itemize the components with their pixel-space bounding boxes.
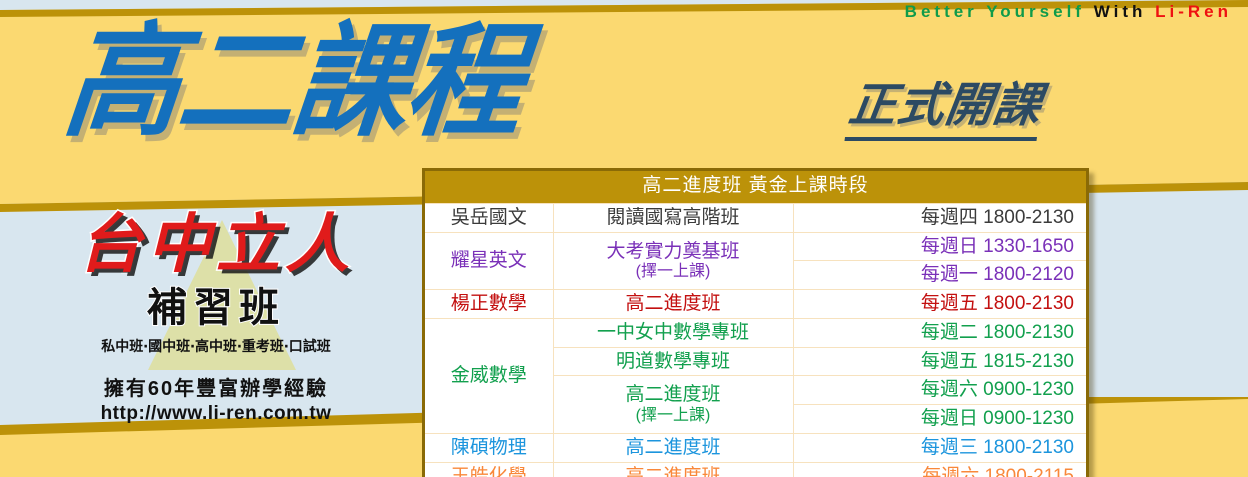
course-name: 高二進度班	[625, 384, 720, 405]
time-cell: 每週四 1800-2130	[793, 203, 1086, 232]
teacher-cell: 吳岳國文	[425, 203, 553, 232]
course-cell: 高二進度班	[553, 433, 793, 462]
time-cell: 每週日 1330-1650	[793, 232, 1086, 261]
course-name: 大考實力奠基班	[606, 241, 739, 262]
tagline-red: Li-Ren	[1155, 2, 1232, 21]
time-cell: 每週六 0900-1230	[793, 376, 1086, 405]
time-cell: 每週六 1800-2115	[793, 462, 1086, 477]
teacher-cell: 耀星英文	[425, 232, 553, 290]
table-header-row: 高二進度班 黃金上課時段	[425, 171, 1086, 203]
course-cell: 閱讀國寫高階班	[553, 203, 793, 232]
course-cell: 一中女中數學專班	[553, 318, 793, 347]
table-row: 金威數學一中女中數學專班每週二 1800-2130	[425, 318, 1086, 347]
time-cell: 每週五 1815-2130	[793, 347, 1086, 376]
school-logo: 台中立人 補習班 私中班‧國中班‧高中班‧重考班‧口試班 擁有60年豐富辦學經驗…	[26, 212, 406, 425]
brand-tagline: Better Yourself With Li-Ren	[905, 2, 1232, 22]
logo-type: 補習班	[26, 275, 406, 333]
course-cell: 大考實力奠基班(擇一上課)	[553, 232, 793, 290]
logo-website-url[interactable]: http://www.li-ren.com.tw	[26, 403, 406, 425]
course-name: 一中女中數學專班	[597, 322, 749, 343]
time-cell: 每週一 1800-2120	[793, 261, 1086, 290]
hero-subtitle: 正式開課	[844, 66, 1047, 141]
table-row: 王皓化學高二進度班每週六 1800-2115	[425, 462, 1086, 477]
course-cell: 高二進度班(擇一上課)	[553, 376, 793, 434]
teacher-cell: 陳碩物理	[425, 433, 553, 462]
course-name: 高二進度班	[625, 437, 720, 458]
table-row: 陳碩物理高二進度班每週三 1800-2130	[425, 433, 1086, 462]
time-cell: 每週二 1800-2130	[793, 318, 1086, 347]
course-note: (擇一上課)	[554, 263, 793, 281]
teacher-cell: 王皓化學	[425, 462, 553, 477]
logo-name: 台中立人	[26, 212, 406, 279]
course-cell: 高二進度班	[553, 290, 793, 319]
course-name: 明道數學專班	[616, 351, 730, 372]
table-row: 耀星英文大考實力奠基班(擇一上課)每週日 1330-1650	[425, 232, 1086, 261]
teacher-cell: 楊正數學	[425, 290, 553, 319]
time-cell: 每週五 1800-2130	[793, 290, 1086, 319]
teacher-cell: 金威數學	[425, 318, 553, 433]
course-name: 高二進度班	[625, 466, 720, 477]
course-cell: 高二進度班	[553, 462, 793, 477]
logo-class-tags: 私中班‧國中班‧高中班‧重考班‧口試班	[26, 336, 406, 356]
table-row: 楊正數學高二進度班每週五 1800-2130	[425, 290, 1086, 319]
schedule-table-container: 高二進度班 黃金上課時段 吳岳國文閱讀國寫高階班每週四 1800-2130耀星英…	[422, 168, 1089, 477]
course-cell: 明道數學專班	[553, 347, 793, 376]
time-cell: 每週日 0900-1230	[793, 405, 1086, 434]
promo-banner: Better Yourself With Li-Ren 高二課程 正式開課 台中…	[0, 0, 1248, 477]
tagline-green: Better Yourself	[905, 2, 1085, 21]
course-name: 閱讀國寫高階班	[606, 207, 739, 228]
course-note: (擇一上課)	[554, 407, 793, 425]
logo-experience: 擁有60年豐富辦學經驗	[26, 372, 406, 401]
course-name: 高二進度班	[625, 293, 720, 314]
hero-title: 高二課程	[58, 16, 528, 149]
table-row: 吳岳國文閱讀國寫高階班每週四 1800-2130	[425, 203, 1086, 232]
schedule-title: 高二進度班 黃金上課時段	[425, 171, 1086, 203]
schedule-body: 吳岳國文閱讀國寫高階班每週四 1800-2130耀星英文大考實力奠基班(擇一上課…	[425, 203, 1086, 477]
time-cell: 每週三 1800-2130	[793, 433, 1086, 462]
schedule-table: 高二進度班 黃金上課時段 吳岳國文閱讀國寫高階班每週四 1800-2130耀星英…	[425, 171, 1086, 477]
tagline-black: With	[1094, 2, 1147, 21]
